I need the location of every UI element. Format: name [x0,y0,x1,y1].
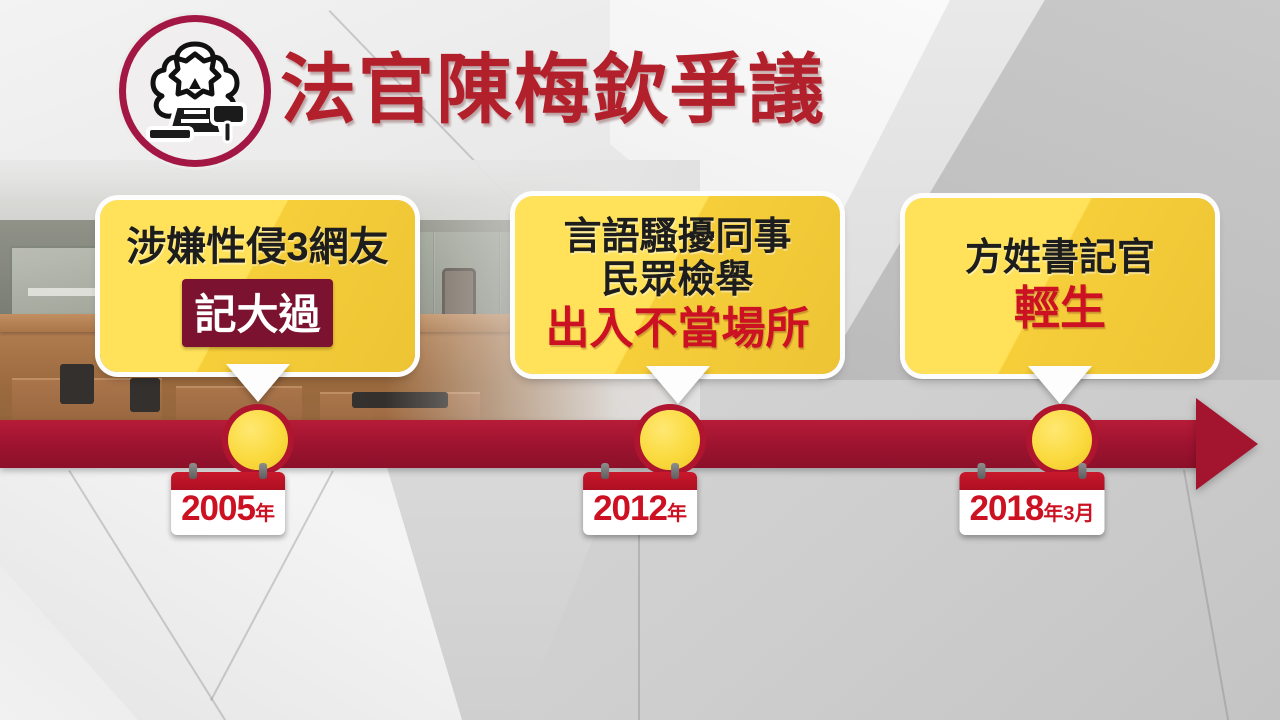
status-badge: 記大過 [182,279,332,347]
date-year: 2012 [593,489,667,528]
calendar-ring-icon [601,463,609,479]
event-bubble-line: 方姓書記官 [965,237,1155,280]
date-unit: 年 [255,503,275,525]
date-year: 2018 [970,489,1044,528]
calendar-ring-icon [1079,463,1087,479]
date-marker[interactable]: 2018年3月 [960,472,1105,535]
header: 法官陳梅欽爭議 [126,22,826,160]
date-marker[interactable]: 2005年 [171,472,285,535]
event-bubble[interactable]: 方姓書記官 輕生 [905,198,1215,374]
bubble-tail [1033,371,1087,403]
page-title: 法官陳梅欽爭議 [280,53,826,129]
timeline-bar [0,420,1208,468]
timeline-node-dot [640,410,700,470]
infographic-stage: 法官陳梅欽爭議 涉嫌性侵3網友 記大過 言語騷擾同事 民眾檢舉 出入不當場所 方… [0,0,1280,720]
event-bubble[interactable]: 言語騷擾同事 民眾檢舉 出入不當場所 [515,196,840,374]
event-bubble-line: 輕生 [1014,282,1106,334]
event-bubble-line: 出入不當場所 [546,304,810,354]
calendar-ring-icon [671,463,679,479]
event-bubble[interactable]: 涉嫌性侵3網友 記大過 [100,200,415,372]
calendar-ring-icon [259,463,267,479]
date-unit: 年3月 [1043,503,1094,525]
timeline-node-dot [228,410,288,470]
date-unit: 年 [667,503,687,525]
judge-wig-gavel-icon [126,22,264,160]
event-bubble-line: 涉嫌性侵3網友 [126,225,388,271]
timeline-node-dot [1032,410,1092,470]
arrow-right-icon [1196,398,1258,490]
calendar-ring-icon [978,463,986,479]
event-bubble-line: 民眾檢舉 [601,259,753,302]
date-year: 2005 [181,489,255,528]
bubble-tail [231,369,285,401]
date-marker[interactable]: 2012年 [583,472,697,535]
bubble-tail [651,371,705,403]
calendar-ring-icon [189,463,197,479]
event-bubble-line: 言語騷擾同事 [563,216,791,259]
